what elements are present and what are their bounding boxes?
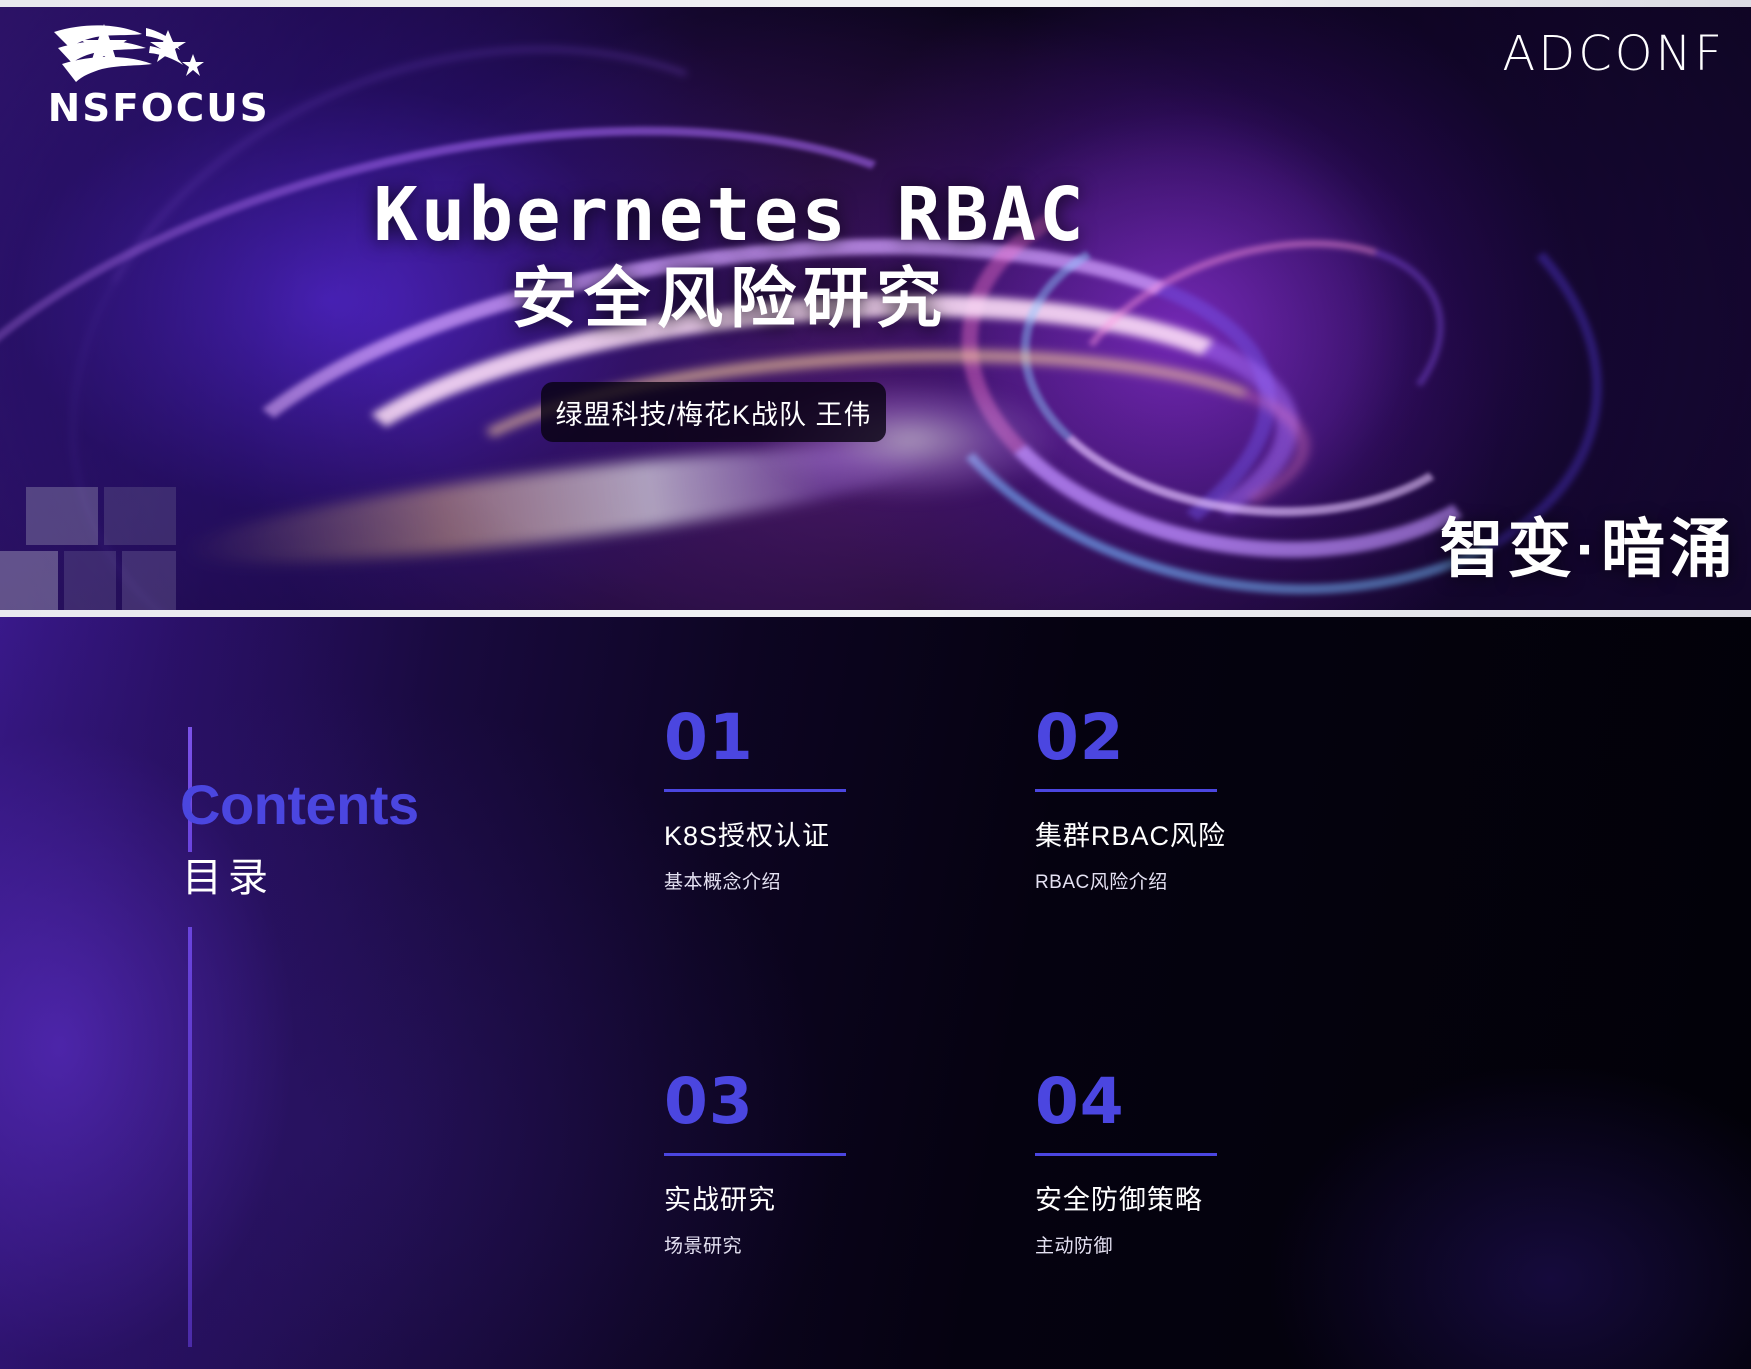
contents-item-number: 04 [1035,1070,1364,1133]
presenter-badge: 绿盟科技/梅花K战队 王伟 [541,382,886,442]
contents-item-02[interactable]: 02 集群RBAC风险 RBAC风险介绍 [1035,706,1364,894]
contents-item-number: 01 [664,706,1035,769]
decorative-square [26,487,98,545]
title-english: Kubernetes RBAC [0,178,1460,252]
accent-vertical-line [188,927,192,1347]
bottom-divider-bar [0,610,1751,617]
contents-item-04[interactable]: 04 安全防御策略 主动防御 [1035,1070,1364,1258]
contents-item-rule [664,1153,846,1156]
nsfocus-logo: NSFOCUS [46,18,276,130]
nsfocus-flag-icon [46,18,276,90]
presenter-text: 绿盟科技/梅花K战队 王伟 [555,393,871,432]
decorative-square [64,551,116,617]
contents-heading-english: Contents [180,772,419,837]
contents-item-subtitle: RBAC风险介绍 [1035,867,1364,894]
contents-item-subtitle: 场景研究 [664,1231,1035,1258]
contents-item-number: 02 [1035,706,1364,769]
contents-item-subtitle: 主动防御 [1035,1231,1364,1258]
contents-grid: 01 K8S授权认证 基本概念介绍 02 集群RBAC风险 RBAC风险介绍 0… [664,706,1364,1258]
contents-item-number: 03 [664,1070,1035,1133]
decorative-square [0,551,58,617]
contents-item-subtitle: 基本概念介绍 [664,867,1035,894]
title-chinese: 安全风险研究 [0,264,1460,333]
title-block: Kubernetes RBAC 安全风险研究 [0,178,1460,333]
contents-item-rule [664,789,846,792]
contents-item-title: 安全防御策略 [1035,1178,1364,1217]
decorative-square [104,487,176,545]
conference-slogan: 智变·暗涌 [1440,498,1737,590]
adconf-logo: ADCONF [1502,26,1725,82]
top-divider-bar [0,0,1751,7]
contents-item-01[interactable]: 01 K8S授权认证 基本概念介绍 [664,706,1035,894]
contents-item-rule [1035,1153,1217,1156]
presentation-slide: NSFOCUS ADCONF Kubernetes RBAC 安全风险研究 绿盟… [0,0,1751,1369]
contents-item-03[interactable]: 03 实战研究 场景研究 [664,1070,1035,1258]
contents-row: 03 实战研究 场景研究 04 安全防御策略 主动防御 [664,1070,1364,1258]
contents-row: 01 K8S授权认证 基本概念介绍 02 集群RBAC风险 RBAC风险介绍 [664,706,1364,894]
contents-heading-chinese: 目录 [182,845,274,903]
contents-item-title: K8S授权认证 [664,814,1035,853]
hero-banner: NSFOCUS ADCONF Kubernetes RBAC 安全风险研究 绿盟… [0,0,1751,617]
contents-item-rule [1035,789,1217,792]
contents-item-title: 实战研究 [664,1178,1035,1217]
contents-item-title: 集群RBAC风险 [1035,814,1364,853]
decorative-square [122,551,176,617]
decorative-squares [0,487,190,617]
nsfocus-wordmark: NSFOCUS [44,86,279,130]
